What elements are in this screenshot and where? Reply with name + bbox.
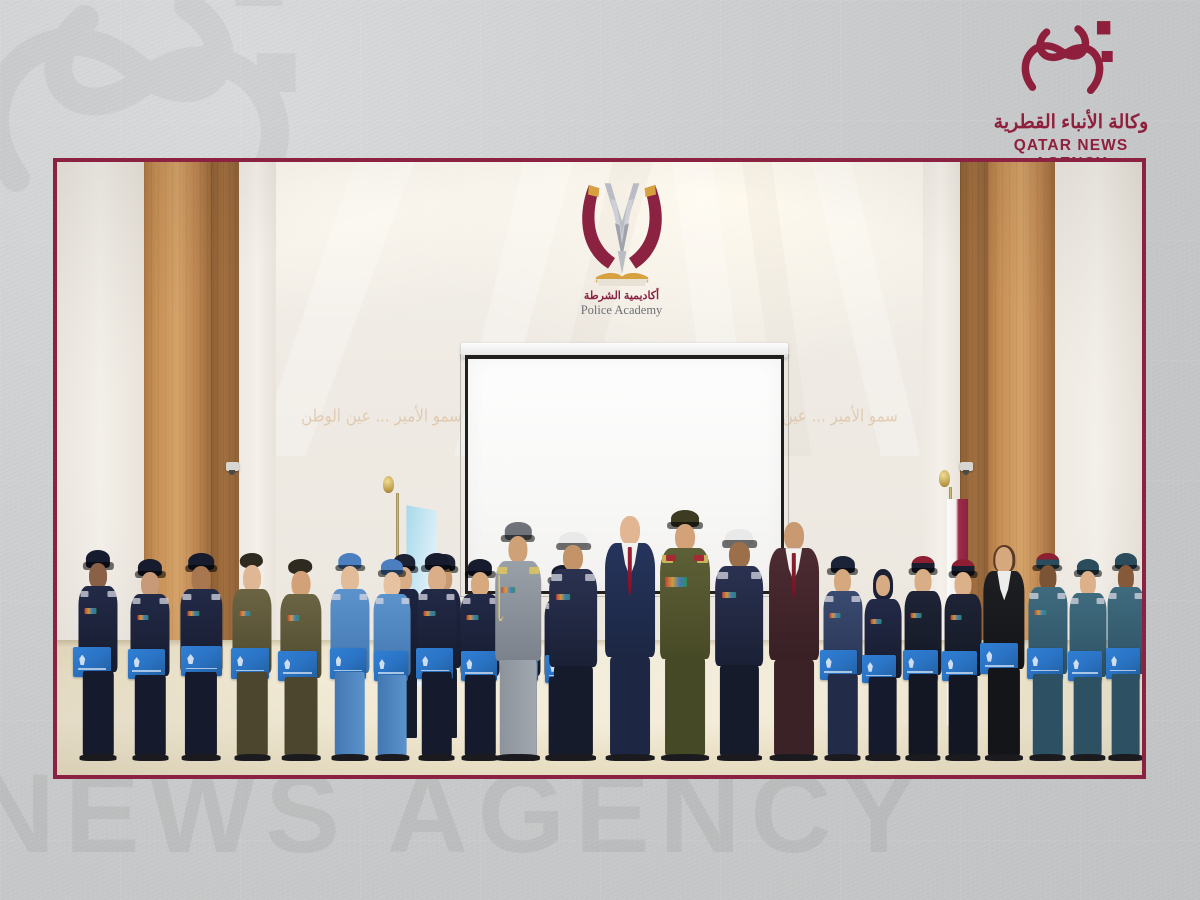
shoes	[1070, 754, 1105, 761]
medal-ribbons	[665, 577, 687, 587]
shoulder-board	[160, 598, 169, 604]
medal-ribbons	[1034, 610, 1046, 615]
shoulder-board	[585, 574, 596, 581]
shoulder-board	[1135, 593, 1142, 599]
list-item	[330, 553, 369, 755]
shoulder-board	[80, 591, 89, 597]
necktie	[628, 547, 632, 595]
list-item	[1107, 553, 1142, 755]
head	[563, 545, 583, 571]
shoes	[1108, 754, 1142, 761]
legs	[500, 660, 536, 756]
shoulder-board	[1057, 593, 1066, 599]
shoulder-board	[462, 598, 471, 604]
legs	[378, 675, 407, 755]
list-item	[374, 559, 411, 755]
qna-brand-logo: وكالة الأنباء القطرية QATAR NEWS AGENCY	[976, 14, 1166, 173]
shoulder-board	[717, 572, 728, 579]
legs	[135, 675, 165, 755]
shoes	[462, 754, 499, 761]
shoes	[606, 754, 655, 761]
list-item	[823, 556, 862, 755]
medal-ribbons	[722, 592, 736, 598]
falcon-book-emblem-icon	[568, 171, 676, 293]
medal-ribbons	[287, 615, 299, 620]
collar-insignia	[666, 555, 676, 562]
legs	[665, 657, 705, 755]
flag-finial-left	[383, 476, 394, 493]
shoulder-board	[332, 594, 341, 600]
medal-ribbons	[870, 619, 881, 624]
list-item	[904, 556, 941, 755]
head	[620, 516, 640, 545]
necktie	[791, 553, 795, 600]
shoes	[906, 754, 941, 761]
head	[509, 536, 528, 563]
shoes	[418, 754, 455, 761]
list-item	[417, 553, 456, 755]
legs	[465, 675, 495, 755]
shoulder-board	[551, 574, 562, 581]
torso	[605, 543, 655, 658]
photo-frame: سمو الأمير ... عين الوطن سمو الأمير ... …	[53, 158, 1146, 779]
shoulder-board	[401, 598, 409, 604]
list-item	[461, 559, 500, 755]
shoes	[496, 754, 540, 761]
head	[675, 524, 695, 551]
torso	[769, 548, 819, 660]
blouse	[997, 571, 1011, 600]
shoes	[661, 754, 709, 761]
list-item	[550, 532, 598, 756]
shoulder-board	[1071, 598, 1079, 604]
list-item	[495, 522, 541, 755]
shoulder-board	[497, 567, 507, 574]
medal-ribbons	[239, 611, 251, 616]
medal-ribbons	[187, 611, 199, 616]
torso	[716, 566, 764, 666]
legs	[1073, 677, 1102, 755]
legs	[1111, 674, 1140, 755]
list-item	[1069, 559, 1106, 755]
shoulder-board	[1109, 593, 1117, 599]
list-item	[945, 559, 982, 755]
head	[729, 542, 749, 568]
medal-ribbons	[467, 615, 479, 620]
page-root: NEWS AGENCY وكالة الأنباء القطرية QATAR …	[0, 0, 1200, 900]
shoulder-board	[211, 594, 220, 600]
aiguillette-cord	[498, 575, 505, 621]
shoulder-board	[419, 594, 428, 600]
shoes	[182, 754, 221, 761]
shoulder-board	[108, 591, 117, 597]
legs	[237, 672, 267, 755]
shoes	[865, 754, 900, 761]
legs	[422, 672, 452, 755]
legs	[610, 657, 650, 755]
legs	[868, 677, 897, 755]
legs	[335, 672, 365, 755]
list-item	[864, 565, 901, 755]
shoulder-board	[132, 598, 141, 604]
head	[784, 522, 804, 550]
security-camera-icon-right	[960, 462, 973, 471]
medal-ribbons	[85, 608, 97, 613]
medal-ribbons	[950, 615, 961, 620]
brand-name-arabic: وكالة الأنباء القطرية	[976, 112, 1166, 134]
shoulder-board	[1097, 598, 1105, 604]
shoulder-board	[751, 572, 762, 579]
head	[876, 575, 890, 596]
legs	[774, 660, 814, 756]
legs	[988, 668, 1020, 756]
shoulder-board	[446, 594, 455, 600]
list-item	[131, 559, 170, 755]
shoes	[717, 754, 763, 761]
shoulder-board	[529, 567, 539, 574]
list-item	[79, 550, 118, 755]
flag-finial-right	[939, 470, 950, 487]
shoes	[132, 754, 169, 761]
legs	[1032, 674, 1062, 755]
list-item	[769, 522, 819, 755]
shoulder-board	[182, 594, 191, 600]
qna-atom-logo-icon	[1012, 14, 1130, 110]
torso	[550, 569, 598, 667]
academy-name-arabic: أكاديمية الشرطة	[562, 289, 682, 302]
medal-ribbons	[556, 594, 570, 600]
shoulder-board	[825, 596, 834, 602]
academy-name-english: Police Academy	[562, 303, 682, 318]
shoes	[985, 754, 1023, 761]
list-item	[1028, 553, 1067, 755]
shoes	[946, 754, 981, 761]
legs	[908, 674, 937, 756]
list-item	[233, 553, 272, 755]
legs	[185, 672, 217, 755]
shoulder-board	[359, 594, 368, 600]
medal-ribbons	[137, 615, 149, 620]
legs	[285, 677, 318, 755]
shoulder-board	[852, 596, 861, 602]
security-camera-icon	[226, 462, 239, 471]
head	[996, 547, 1013, 573]
torso	[495, 561, 541, 661]
medal-ribbons	[829, 613, 841, 618]
shoes	[281, 754, 321, 761]
shoes	[375, 754, 410, 761]
list-item	[281, 559, 322, 755]
legs	[83, 671, 113, 755]
shoes	[824, 754, 861, 761]
ceremony-photograph: سمو الأمير ... عين الوطن سمو الأمير ... …	[57, 162, 1142, 775]
legs	[554, 666, 592, 755]
medal-ribbons	[910, 613, 921, 618]
shoulder-board	[375, 598, 383, 604]
shoulder-board	[1030, 593, 1039, 599]
collar-insignia	[694, 555, 704, 562]
medal-ribbons	[423, 611, 435, 616]
wall-calligraphy-left: سمو الأمير ... عين الوطن	[301, 406, 462, 427]
legs	[827, 674, 857, 756]
legs	[949, 675, 978, 755]
torso	[660, 548, 710, 658]
list-item	[605, 516, 655, 755]
shoes	[332, 754, 369, 761]
legs	[720, 665, 758, 756]
police-academy-wall-logo: أكاديمية الشرطة Police Academy	[562, 171, 682, 318]
shoes	[551, 754, 597, 761]
list-item	[181, 553, 222, 755]
list-item	[984, 547, 1025, 755]
shoes	[234, 754, 271, 761]
shoes	[80, 754, 117, 761]
list-item	[716, 529, 764, 756]
list-item	[660, 510, 710, 755]
shoes	[769, 754, 818, 761]
shoes	[1029, 754, 1066, 761]
